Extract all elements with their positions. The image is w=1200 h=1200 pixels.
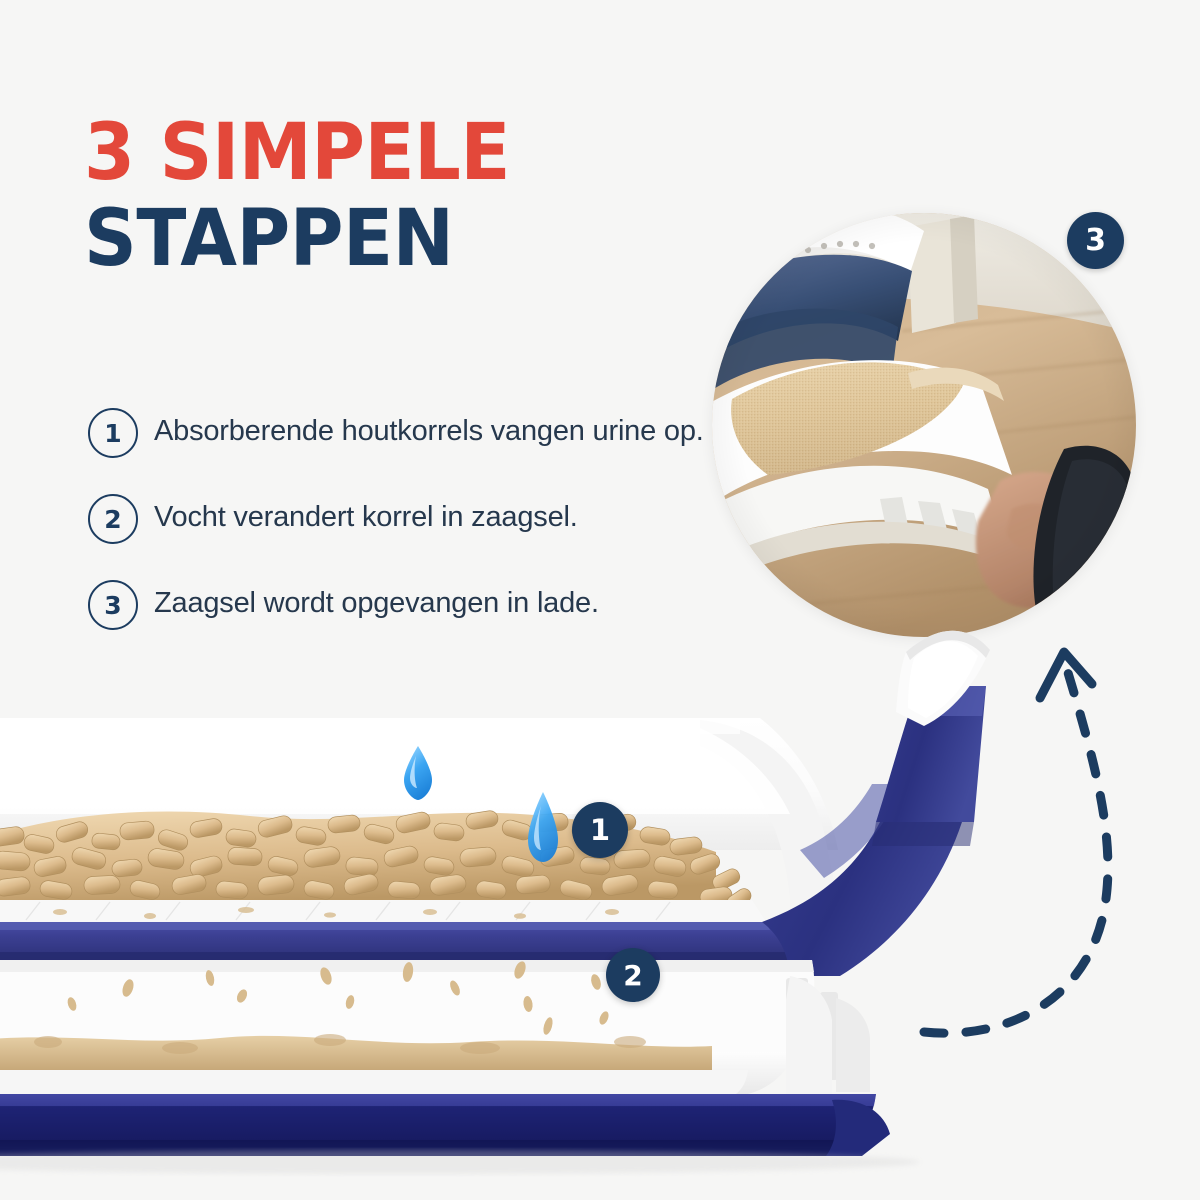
curved-dashed-arrow xyxy=(880,620,1160,1060)
photo-inset-graphic xyxy=(712,213,1136,637)
step-number-badge: 1 xyxy=(88,408,138,458)
photo-inset-litter-tray xyxy=(712,213,1136,637)
list-item: 2 Vocht verandert korrel in zaagsel. xyxy=(88,492,748,544)
headline-line-2: STAPPEN xyxy=(84,204,667,276)
headline-line-1: 3 SIMPELE xyxy=(84,118,667,190)
photo-step-badge-3: 3 xyxy=(1067,212,1124,269)
step-description: Absorberende houtkorrels vangen urine op… xyxy=(154,406,704,452)
step-number-badge: 2 xyxy=(88,494,138,544)
product-step-badge-1: 1 xyxy=(572,802,628,858)
poster-canvas: 3 SIMPELE STAPPEN 1 Absorberende houtkor… xyxy=(0,0,1200,1200)
page-title: 3 SIMPELE STAPPEN xyxy=(84,118,704,276)
product-step-badge-2: 2 xyxy=(606,948,660,1002)
list-item: 1 Absorberende houtkorrels vangen urine … xyxy=(88,406,748,458)
curved-dashed-arrow-graphic xyxy=(880,620,1160,1060)
step-description: Vocht verandert korrel in zaagsel. xyxy=(154,492,578,538)
